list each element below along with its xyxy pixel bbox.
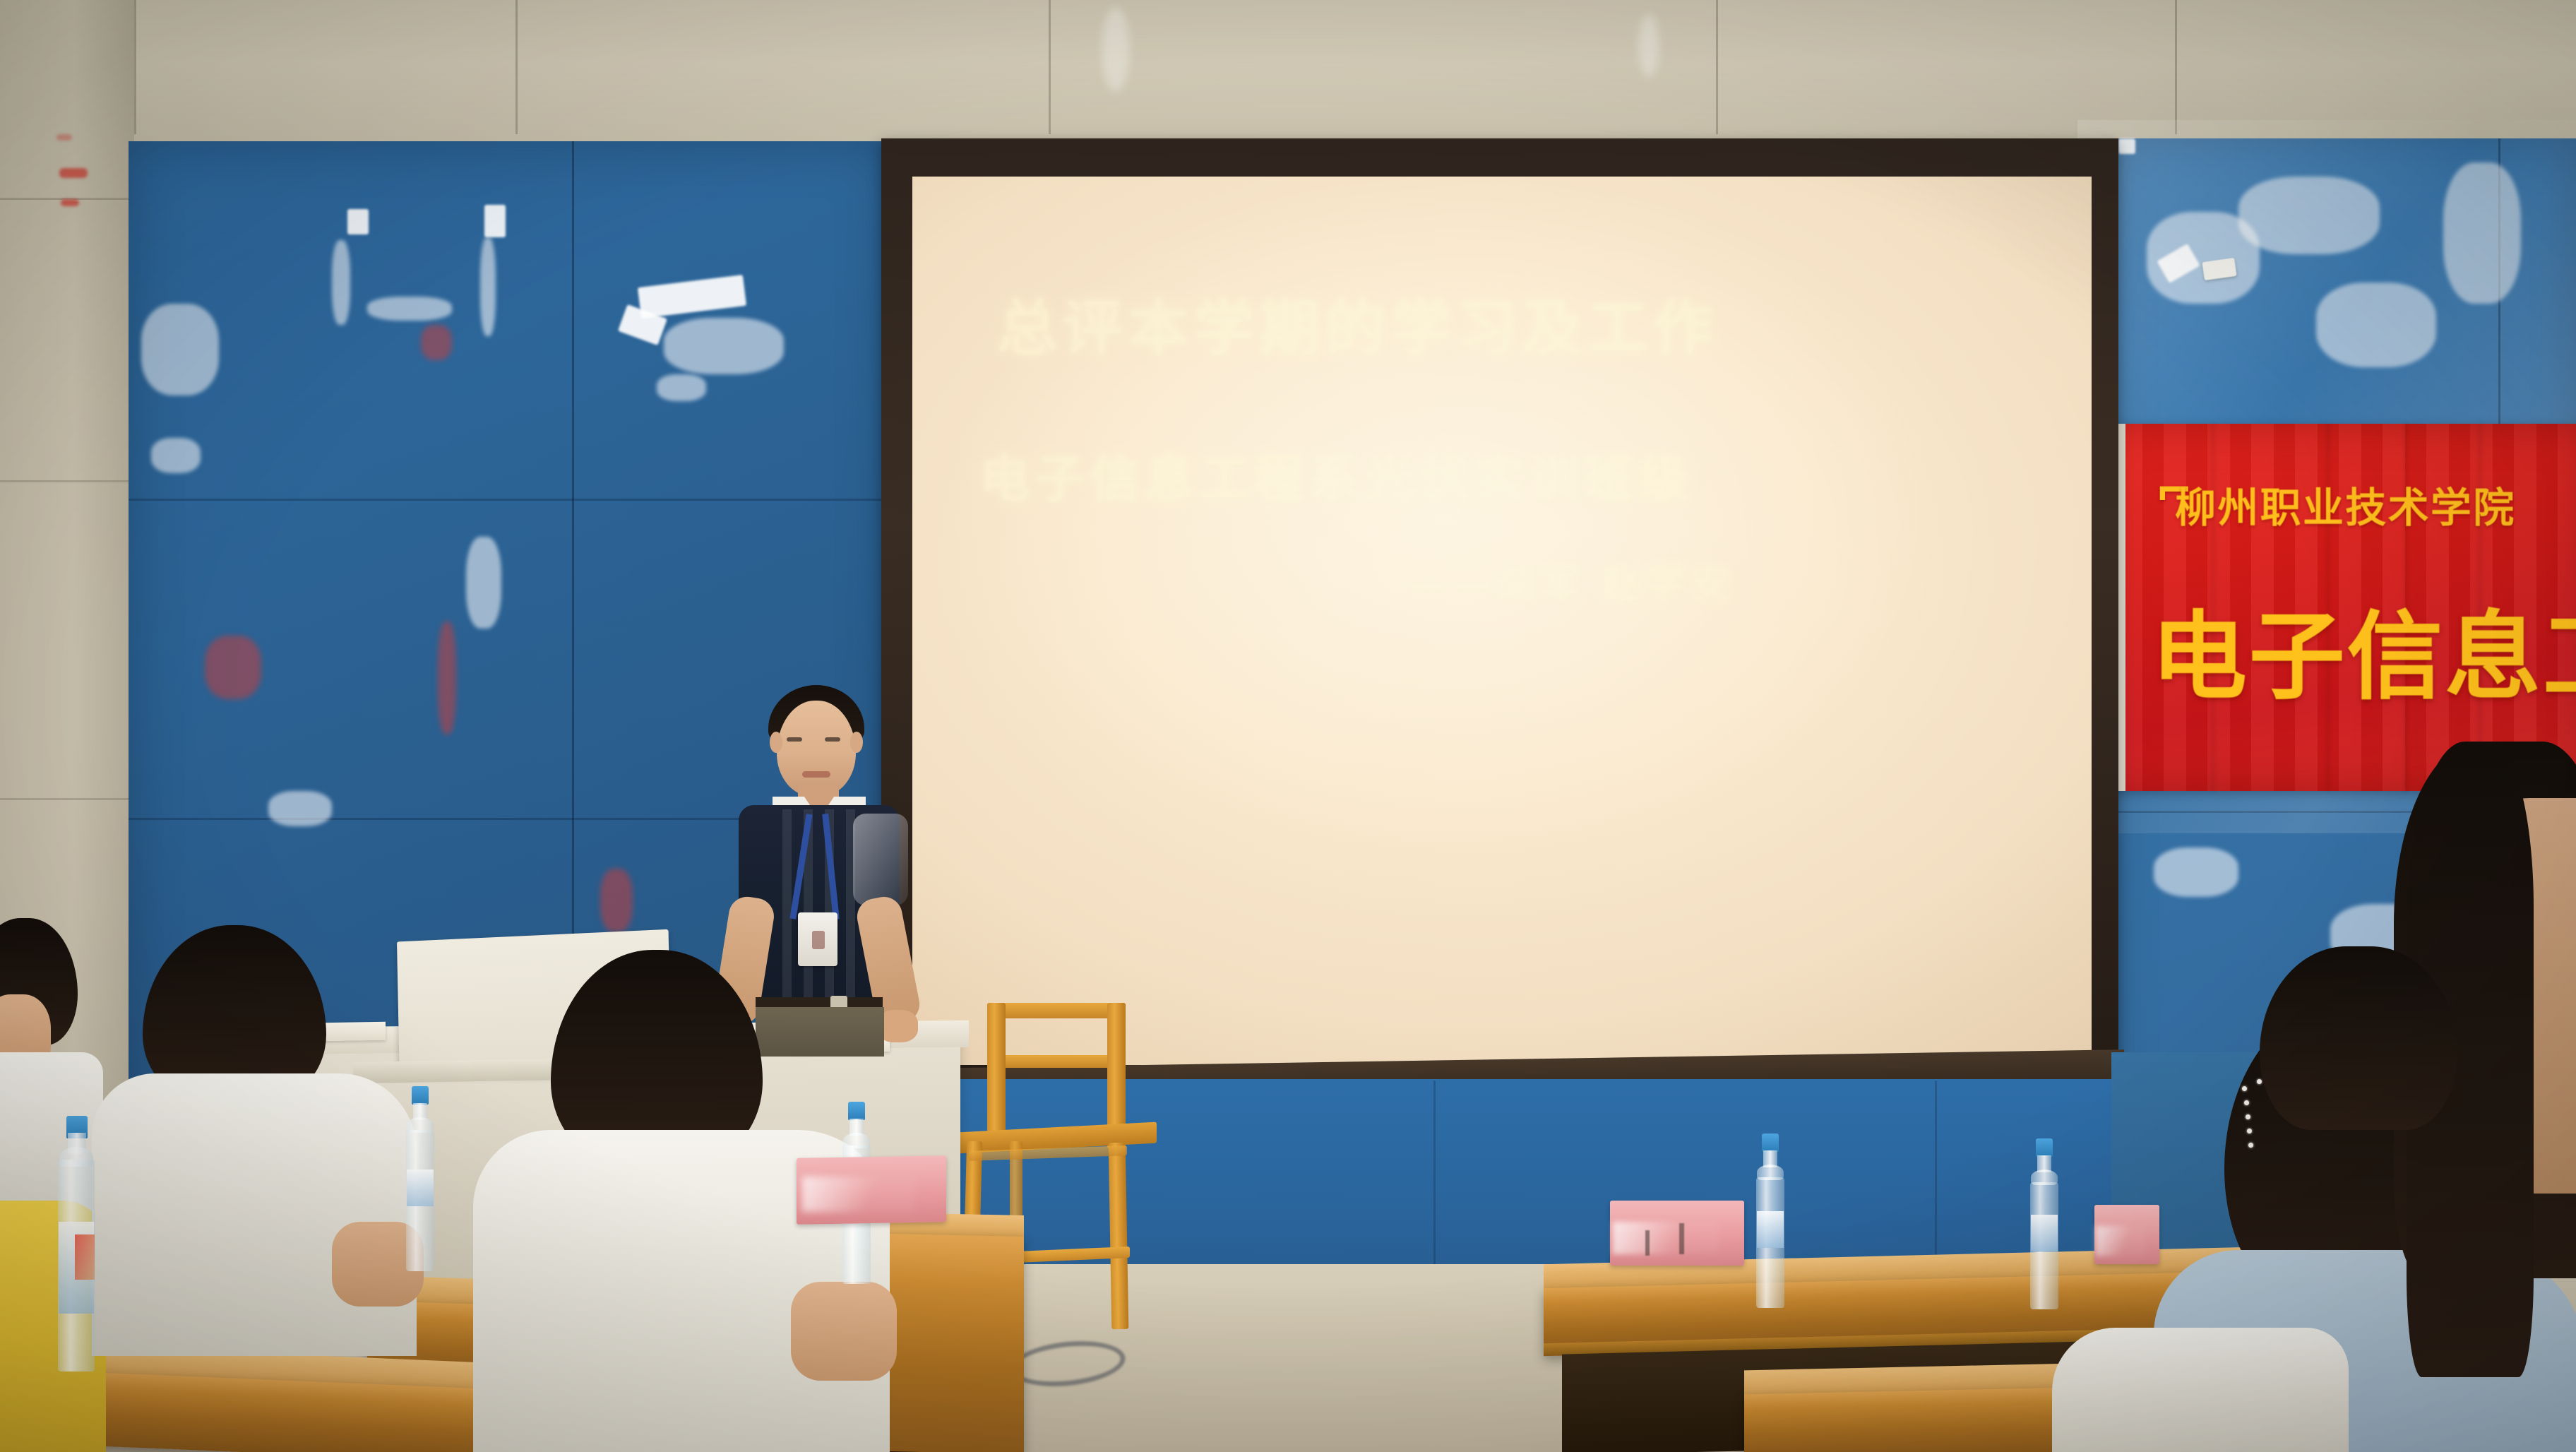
ceiling-panels xyxy=(0,0,2576,141)
student-far-right-shoulder xyxy=(2052,1328,2349,1452)
student-right-back xyxy=(2260,946,2471,1158)
projection-screen xyxy=(912,177,2092,1065)
banner-department-text: 电子信息工 xyxy=(2151,579,2576,718)
classroom-photograph: ⌐ 柳州职业技术学院 电子信息工 总评本学期的学习及工作 电子信息工程系光伏实训… xyxy=(0,0,2576,1452)
banner-institution-text: 柳州职业技术学院 xyxy=(2175,475,2516,534)
student-mid-left xyxy=(106,925,402,1321)
presenter-head xyxy=(777,701,856,797)
